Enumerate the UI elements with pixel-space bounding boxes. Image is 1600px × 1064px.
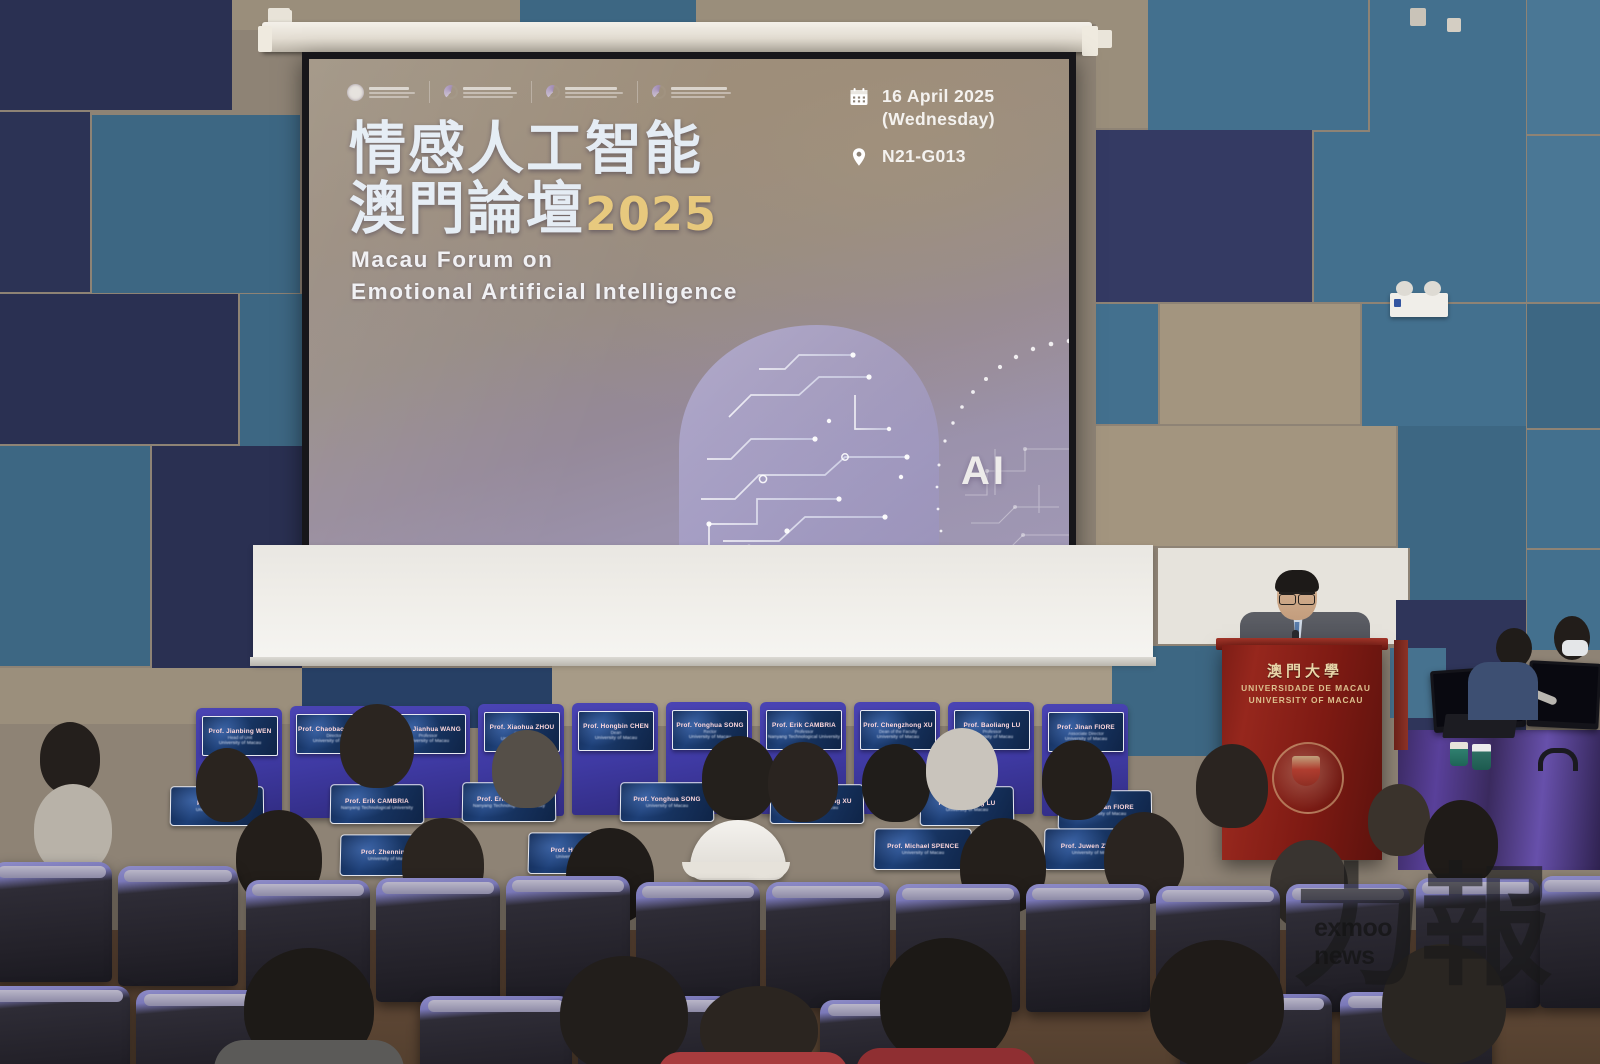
auditorium-seat [118,866,238,986]
seat-rim [642,886,754,898]
slide-title-chinese-line1: 情感人工智能 [349,119,717,179]
slide-venue-row: N21-G013 [849,145,995,168]
wall-panel [1527,136,1600,302]
whiteboard [253,545,1153,663]
emergency-light-head [1424,281,1441,296]
reserved-placard: Prof. Hongbin CHEN Dean University of Ma… [578,711,654,751]
wall-panel [1160,304,1360,424]
slide-date-row: 16 April 2025 (Wednesday) [849,85,995,131]
wall-panel [696,0,1096,24]
wall-panel [1096,0,1148,128]
placard-affiliation: Nanyang Technological University [341,805,413,810]
slide-title-chinese: 情感人工智能 澳門論壇2025 [349,119,717,240]
audience-head [1368,784,1430,856]
audience-shoulders [658,1052,848,1064]
placard-affiliation: University of Macau [902,850,944,855]
placard-affiliation: University of Macau [689,734,731,739]
emergency-light-head [1396,281,1413,296]
logo-divider [429,81,430,103]
seat-rim [0,866,106,878]
c-ring-icon [546,85,560,99]
slide-event-details: 16 April 2025 (Wednesday) N21-G013 [849,85,995,182]
slide-venue-text: N21-G013 [882,145,966,168]
podium-name-portuguese: UNIVERSIDADE DE MACAU [1236,683,1376,693]
seat-rim [772,886,884,898]
auditorium-seat [1540,876,1600,1008]
seat-rim [252,884,364,896]
audience-head [1424,800,1498,886]
audience-head [862,744,930,822]
slide-year: 2025 [585,187,717,241]
placard-name: Prof. Jinan FIORE [1057,724,1115,731]
wall-panel [1096,304,1158,424]
seat-rim [1544,880,1600,892]
technician-shoulders [1468,662,1538,720]
logo-text-lines [369,87,415,98]
ai-robotics-centre-logo [652,85,731,99]
audience-shoulders [214,1040,404,1064]
lecture-hall-photograph: AI 情感人工智能 澳門論壇2025 Macau Forum on Emotio… [0,0,1600,1064]
cap-brim [682,862,790,878]
slide-title-english: Macau Forum on Emotional Artificial Inte… [351,244,738,308]
auditorium-seat [0,986,130,1064]
auditorium-seat [420,996,572,1064]
placard-name: Prof. Jianbing WEN [209,728,272,735]
slide-title-chinese-line2: 澳門論壇2025 [349,179,717,239]
speaker-glasses [1279,592,1315,603]
wall-panel [1314,132,1526,302]
logo-divider [637,81,638,103]
wall-panel [1527,0,1600,134]
audience-head [196,748,258,822]
wall-panel [0,294,238,444]
seat-rim [902,888,1014,900]
whiteboard-marker-tray [250,657,1156,666]
wall-panel [1527,430,1600,548]
placard-affiliation: University of Macau [646,803,688,808]
placard-name: Prof. Hongbin CHEN [583,723,649,730]
seat-rim [1422,882,1534,894]
projection-screen: AI 情感人工智能 澳門論壇2025 Macau Forum on Emotio… [302,52,1076,561]
audience-shoulders [856,1048,1036,1064]
placard-name: Prof. Yonghua SONG [676,722,743,729]
state-key-laboratory-logo [546,85,623,99]
logo-divider [531,81,532,103]
auditorium-seat [376,878,500,1002]
emergency-light-logo [1394,299,1401,307]
crest-shield [1292,756,1320,786]
seat-rim [0,990,123,1002]
placard-name: Prof. Yonghua SONG [633,796,700,803]
audience-head [492,730,562,808]
reserved-placard: Prof. Jianbing WEN Head of Unit Universi… [202,716,278,756]
wall-panel [1362,304,1526,426]
wall-panel [1096,130,1312,302]
headphones [1538,748,1578,771]
placard-name: Prof. Chengzhong XU [863,722,932,729]
speaker-hair [1275,570,1319,592]
wall-panel [1527,304,1600,428]
banner-stand [1394,640,1408,750]
auditorium-seat [766,882,890,1008]
coffee-cup [1450,742,1468,766]
wall-panel [1148,0,1368,130]
institute-of-collaborative-innovation-logo [444,85,517,99]
reserved-placard: Prof. Michael SPENCE University of Macau [874,828,973,870]
projection-screen-housing [262,22,1092,52]
face-mask [1562,640,1588,656]
ai-artwork-label: AI [961,449,1007,494]
wall-outlet [1447,18,1461,32]
wall-panel [92,115,300,293]
audience-head [926,728,998,810]
audience-head [880,938,1012,1064]
wall-panel [1096,426,1396,546]
coffee-cup [1472,744,1491,770]
audience-head [1042,740,1112,820]
reserved-placard: Prof. Yonghua SONG University of Macau [620,782,715,822]
audience-head [702,736,776,820]
audience-head [1196,744,1268,828]
university-of-macau-logo [347,84,415,101]
seat-rim [1292,888,1404,900]
podium-name-english: UNIVERSITY OF MACAU [1236,695,1376,705]
placard-affiliation: University of Macau [877,734,919,739]
slide-title-english-line2: Emotional Artificial Intelligence [351,276,738,308]
placard-name: Prof. Erik CAMBRIA [772,722,836,729]
placard-name: Prof. Baoliang LU [963,722,1020,729]
c-ring-icon [444,85,458,99]
wall-panel [1398,426,1526,548]
podium-name-chinese: 澳門大學 [1246,660,1364,681]
placard-name: Prof. Erik CAMBRIA [345,798,409,805]
reserved-placard: Prof. Erik CAMBRIA Nanyang Technological… [330,784,425,824]
placard-name: Prof. Michael SPENCE [887,843,959,850]
auditorium-seat [0,862,112,982]
logo-text-lines [565,87,623,98]
ai-head-artwork [639,299,1069,554]
seat-rim [382,882,494,894]
placard-affiliation: Nanyang Technological University [768,734,840,739]
wall-panel [520,0,696,22]
seat-rim [428,1000,565,1012]
calendar-icon [849,87,869,107]
screen-housing-cap [1082,26,1098,56]
seat-rim [1032,888,1144,900]
placard-affiliation: University of Macau [219,740,261,745]
audience-head [768,742,838,822]
wall-panel [266,0,520,24]
c-ring-icon [652,85,666,99]
screen-housing-cap [258,26,272,52]
placard-affiliation: University of Macau [595,735,637,740]
wall-device [1410,8,1426,26]
wall-panel [0,0,232,110]
logo-text-lines [671,87,731,98]
seat-rim [124,870,232,882]
audience-head [340,704,414,788]
auditorium-seat [1026,884,1150,1012]
audience-head [1150,940,1284,1064]
seat-rim [1162,890,1274,902]
seat-rim [512,880,624,892]
university-seal-icon [347,84,364,101]
wall-panel [0,112,90,292]
logo-text-lines [463,87,517,98]
slide-title-english-line1: Macau Forum on [351,244,738,276]
slide-date-text: 16 April 2025 (Wednesday) [882,85,995,131]
slide-logo-strip [347,81,731,103]
audience-head [560,956,688,1064]
audience-head [1382,944,1506,1064]
location-pin-icon [849,147,869,167]
wall-panel [0,446,150,666]
audience-head [34,784,112,874]
